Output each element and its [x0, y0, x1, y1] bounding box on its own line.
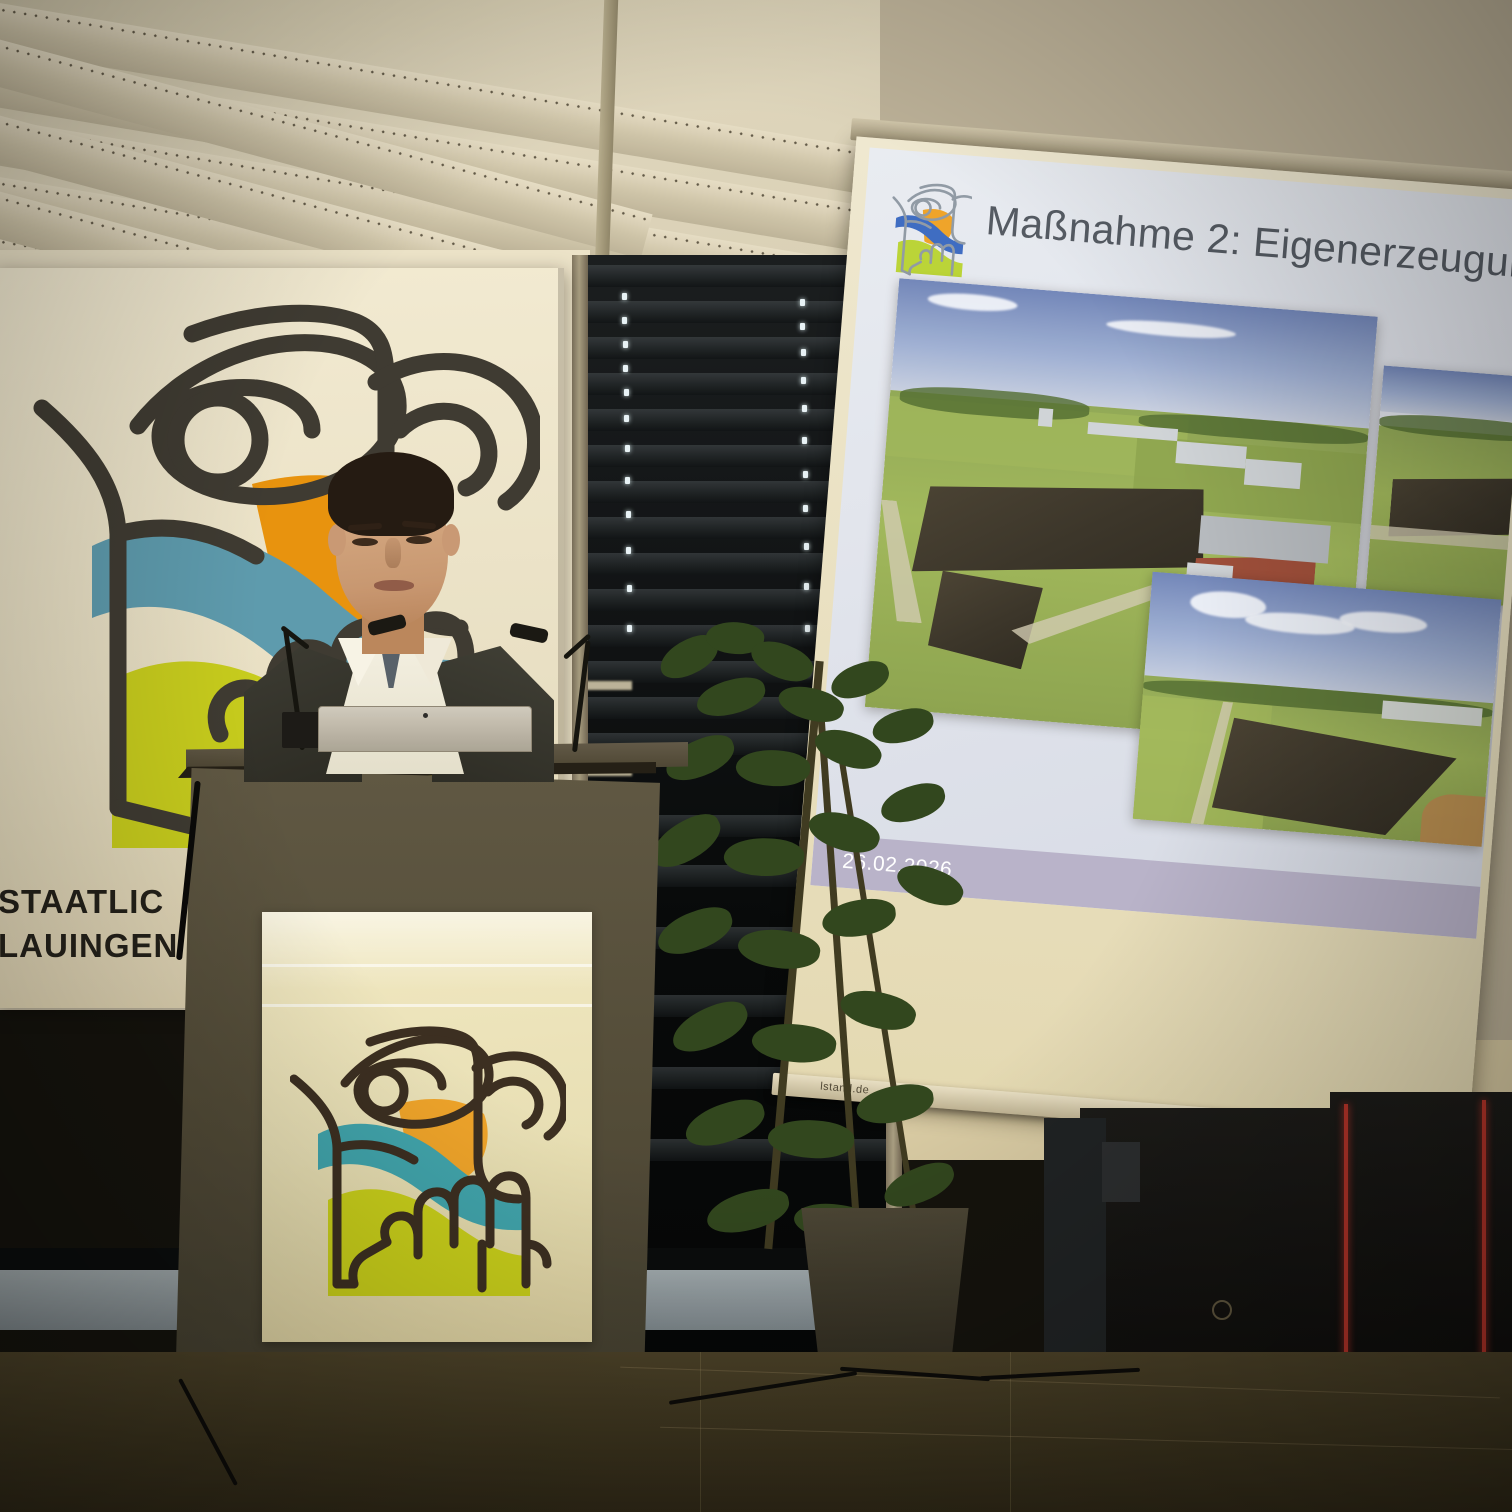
- presentation-room-photo: STAATLIC LAUINGEN: [0, 0, 1512, 1512]
- laptop-camera: [423, 713, 428, 718]
- laptop-screen: [318, 706, 532, 752]
- av-rack-accent-right: [1482, 1100, 1486, 1362]
- lectern-logo-abstract-face: [290, 1020, 566, 1296]
- aerial-photo-solar-field-inset: [1133, 572, 1502, 847]
- av-rack-accent-left: [1344, 1104, 1348, 1366]
- ear-right: [442, 524, 460, 556]
- speaker-brand-badge: [1212, 1300, 1232, 1320]
- av-side-panel: [1044, 1118, 1106, 1368]
- mouth: [374, 580, 414, 591]
- plant-pot: [790, 1208, 980, 1376]
- plate-gloss-highlight: [262, 912, 592, 990]
- nose: [385, 538, 401, 568]
- eye-right: [406, 536, 432, 544]
- av-panel-port: [1102, 1142, 1140, 1202]
- aerial-photo-solar-field-right: [1365, 365, 1512, 608]
- floor: [0, 1352, 1512, 1512]
- lectern-logo-plate: [262, 912, 592, 1342]
- eye-left: [352, 538, 378, 546]
- slide-title: Maßnahme 2: Eigenerzeugung v: [984, 197, 1512, 294]
- slide-logo-abstract-face: [883, 177, 973, 283]
